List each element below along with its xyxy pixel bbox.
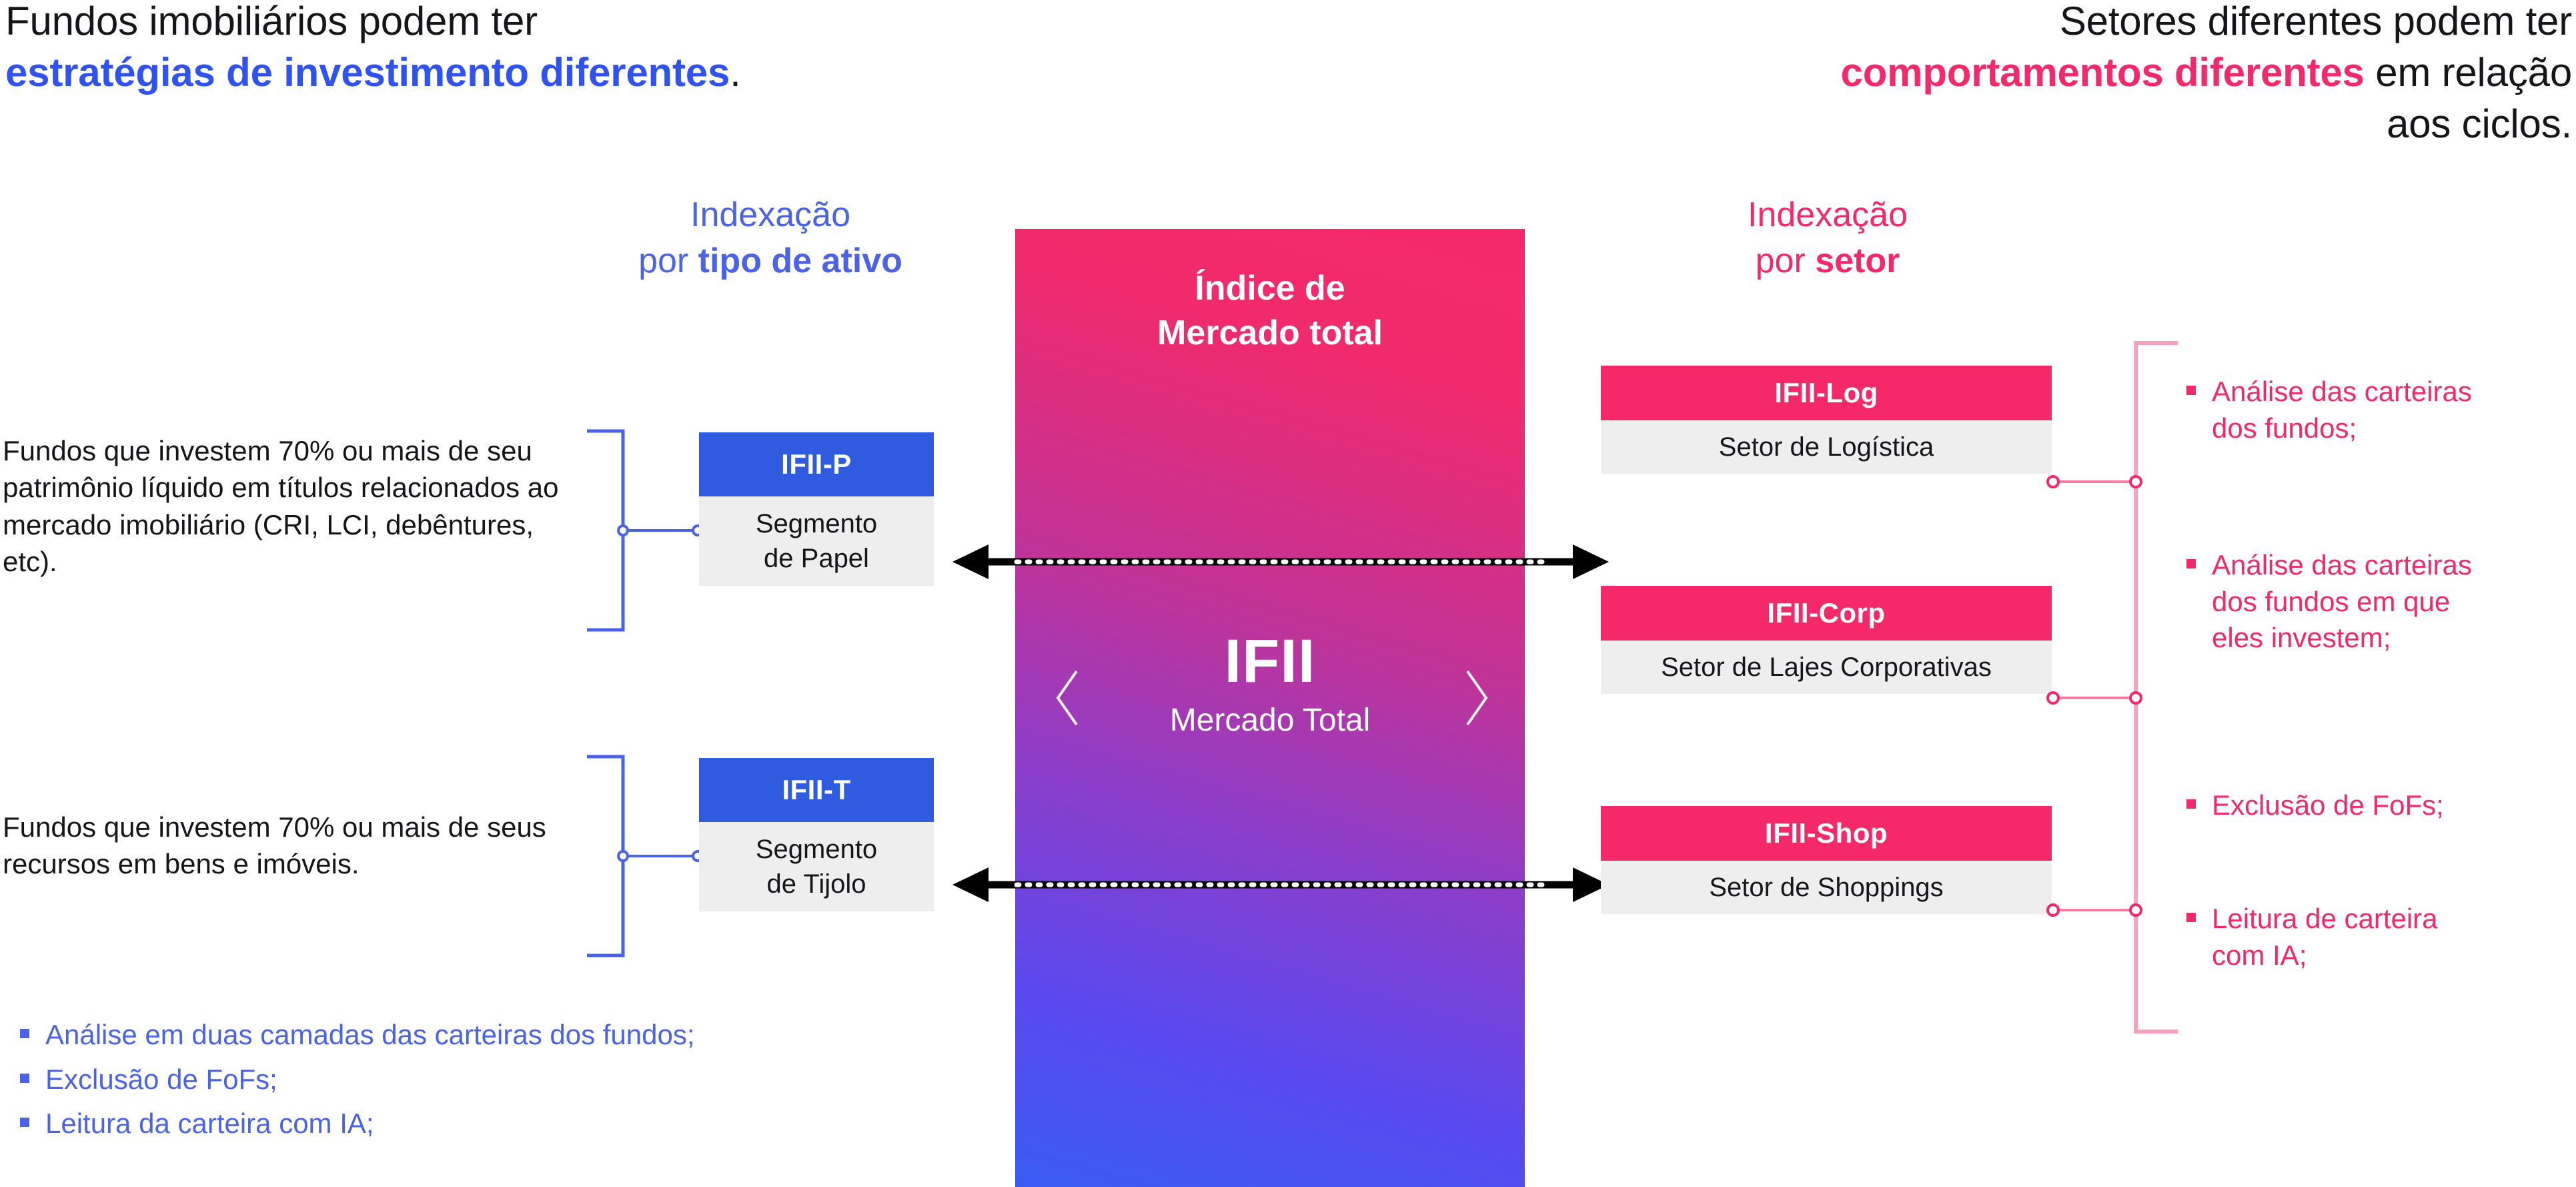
bullet-text: Análise em duas camadas das carteiras do… <box>45 1017 695 1054</box>
card-ifii-p-segment: Segmento de Papel <box>699 496 934 586</box>
panel-center-block: IFII Mercado Total <box>1015 629 1525 739</box>
card-ifii-shop-code: IFII-Shop <box>1601 806 2052 861</box>
header-right-line3: aos ciclos. <box>2387 101 2572 146</box>
card-ifii-log-code: IFII-Log <box>1601 366 2052 420</box>
card-ifii-shop[interactable]: IFII-Shop Setor de Shoppings <box>1601 806 2052 914</box>
card-ifii-log-sector: Setor de Logística <box>1601 420 2052 474</box>
column-title-left-bold: tipo de ativo <box>698 242 902 280</box>
bullet-square-icon <box>20 1118 29 1127</box>
header-left-highlight: estratégias de investimento diferentes <box>5 50 730 95</box>
header-left: Fundos imobiliários podem terestratégias… <box>5 0 1006 99</box>
panel-title: Índice de Mercado total <box>1015 266 1525 355</box>
list-item: Exclusão de FoFs; <box>20 1062 954 1098</box>
chevron-right-icon <box>1462 667 1491 729</box>
card-ifii-t-code: IFII-T <box>699 758 934 822</box>
card-ifii-t[interactable]: IFII-T Segmento de Tijolo <box>699 758 934 911</box>
list-item: Análise das carteiras dos fundos em que … <box>2186 547 2576 657</box>
header-right-tail: em relação <box>2365 50 2572 95</box>
card-ifii-p[interactable]: IFII-P Segmento de Papel <box>699 432 934 586</box>
list-item: Análise em duas camadas das carteiras do… <box>20 1017 954 1054</box>
card-ifii-t-segment: Segmento de Tijolo <box>699 822 934 911</box>
card-ifii-corp-code: IFII-Corp <box>1601 586 2052 641</box>
chevron-left-icon <box>1053 667 1082 729</box>
bullet-square-icon <box>20 1074 29 1083</box>
card-ifii-corp[interactable]: IFII-Corp Setor de Lajes Corporativas <box>1601 586 2052 694</box>
list-item: Exclusão de FoFs; <box>2186 787 2576 824</box>
bullet-square-icon <box>2186 799 2196 809</box>
column-title-asset-type: Indexação por tipo de ativo <box>567 192 974 284</box>
description-paper: Fundos que investem 70% ou mais de seu p… <box>3 432 576 580</box>
column-title-right-bold: setor <box>1815 242 1900 280</box>
header-right-highlight: comportamentos diferentes <box>1841 50 2365 95</box>
header-left-tail: . <box>730 50 740 95</box>
bullet-text: Leitura de carteira com IA; <box>2212 901 2438 973</box>
header-right-line1: Setores diferentes podem ter <box>2060 0 2572 43</box>
bracket-brick <box>584 753 711 959</box>
panel-acronym: IFII <box>1015 629 1525 694</box>
bullet-text: Análise das carteiras dos fundos em que … <box>2212 547 2472 657</box>
description-brick: Fundos que investem 70% ou mais de seus … <box>3 809 603 883</box>
card-ifii-log[interactable]: IFII-Log Setor de Logística <box>1601 366 2052 474</box>
double-arrow-paper <box>947 542 1614 582</box>
header-left-line1: Fundos imobiliários podem ter <box>5 0 538 43</box>
center-gradient-panel: Índice de Mercado total IFII Mercado Tot… <box>1015 229 1525 1187</box>
card-ifii-p-code: IFII-P <box>699 432 934 496</box>
list-item: Leitura da carteira com IA; <box>20 1106 954 1142</box>
bullet-square-icon <box>2186 559 2196 568</box>
list-item: Leitura de carteira com IA; <box>2186 901 2576 973</box>
bullet-square-icon <box>2186 386 2196 395</box>
bracket-paper <box>584 427 711 634</box>
bullet-text: Exclusão de FoFs; <box>2212 787 2444 824</box>
list-item: Análise das carteiras dos fundos; <box>2186 374 2576 446</box>
bullet-text: Leitura da carteira com IA; <box>45 1106 374 1142</box>
bullet-text: Análise das carteiras dos fundos; <box>2212 374 2472 446</box>
card-ifii-shop-sector: Setor de Shoppings <box>1601 861 2052 914</box>
column-title-sector: Indexação por setor <box>1641 192 2014 284</box>
bullet-list-left: Análise em duas camadas das carteiras do… <box>20 1017 954 1150</box>
card-ifii-corp-sector: Setor de Lajes Corporativas <box>1601 641 2052 694</box>
bullet-square-icon <box>20 1029 29 1038</box>
panel-subtitle: Mercado Total <box>1015 702 1525 739</box>
header-right: Setores diferentes podem tercomportament… <box>1438 0 2572 149</box>
bullet-text: Exclusão de FoFs; <box>45 1062 277 1098</box>
bullet-square-icon <box>2186 913 2196 922</box>
double-arrow-brick <box>947 865 1614 905</box>
infographic-canvas: Fundos imobiliários podem terestratégias… <box>0 0 2576 1187</box>
